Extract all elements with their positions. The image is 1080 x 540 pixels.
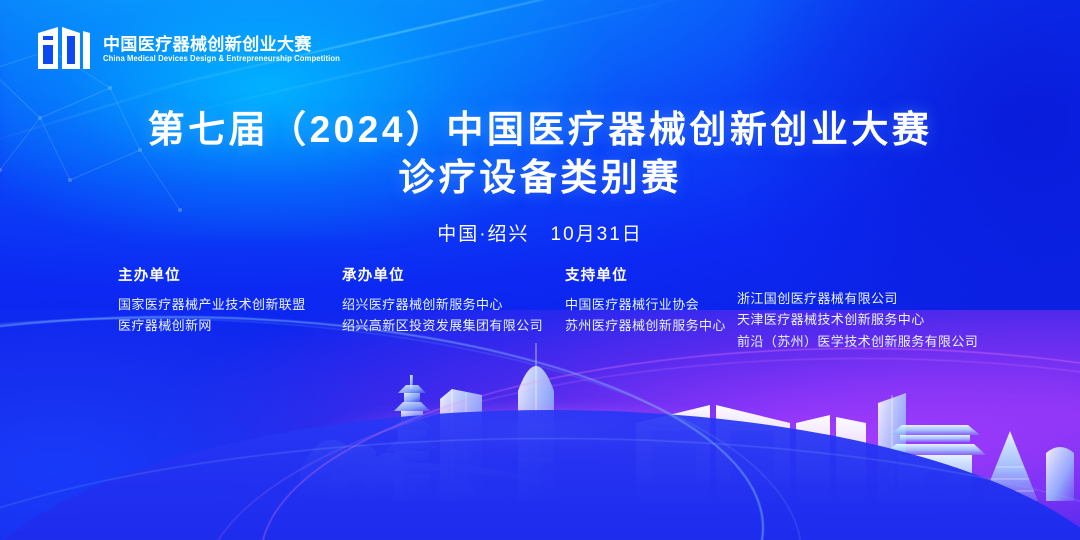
column-heading: 主办单位 xyxy=(118,264,306,285)
logo-english-name: China Medical Devices Design & Entrepren… xyxy=(103,55,340,63)
organizer-item: 绍兴高新区投资发展集团有限公司 xyxy=(342,315,543,336)
organizer-item: 浙江国创医疗器械有限公司 xyxy=(737,288,978,309)
organizer-column-support: 支持单位 中国医疗器械行业协会 苏州医疗器械创新服务中心 xyxy=(565,264,726,337)
organizer-item: 绍兴医疗器械创新服务中心 xyxy=(342,294,543,315)
organizer-column-undertaker: 承办单位 绍兴医疗器械创新服务中心 绍兴高新区投资发展集团有限公司 xyxy=(342,264,543,337)
organizer-column-support-continued: 浙江国创医疗器械有限公司 天津医疗器械技术创新服务中心 前沿（苏州）医学技术创新… xyxy=(737,288,978,352)
organizer-item: 中国医疗器械行业协会 xyxy=(565,294,726,315)
organizer-column-host: 主办单位 国家医疗器械产业技术创新联盟 医疗器械创新网 xyxy=(118,264,306,337)
column-heading: 支持单位 xyxy=(565,264,726,285)
event-location-date: 中国·绍兴 10月31日 xyxy=(0,219,1080,246)
organizer-item: 国家医疗器械产业技术创新联盟 xyxy=(118,294,306,315)
organizer-section: 主办单位 国家医疗器械产业技术创新联盟 医疗器械创新网 承办单位 绍兴医疗器械创… xyxy=(0,264,1080,364)
competition-logo[interactable]: 中国医疗器械创新创业大赛 China Medical Devices Desig… xyxy=(36,22,350,74)
organizer-item: 医疗器械创新网 xyxy=(118,315,306,336)
logo-chinese-name: 中国医疗器械创新创业大赛 xyxy=(103,36,350,53)
page-title-line2: 诊疗设备类别赛 xyxy=(0,156,1080,200)
organizer-item: 前沿（苏州）医学技术创新服务有限公司 xyxy=(737,331,978,352)
organizer-item: 苏州医疗器械创新服务中心 xyxy=(565,315,726,336)
page-title-line1: 第七届（2024）中国医疗器械创新创业大赛 xyxy=(0,108,1080,152)
conference-banner: 中国医疗器械创新创业大赛 China Medical Devices Desig… xyxy=(0,0,1080,540)
title-block: 第七届（2024）中国医疗器械创新创业大赛 诊疗设备类别赛 中国·绍兴 10月3… xyxy=(0,108,1080,246)
column-heading: 承办单位 xyxy=(342,264,543,285)
organizer-item: 天津医疗器械技术创新服务中心 xyxy=(737,309,978,330)
competition-door-logo-icon xyxy=(36,22,92,74)
